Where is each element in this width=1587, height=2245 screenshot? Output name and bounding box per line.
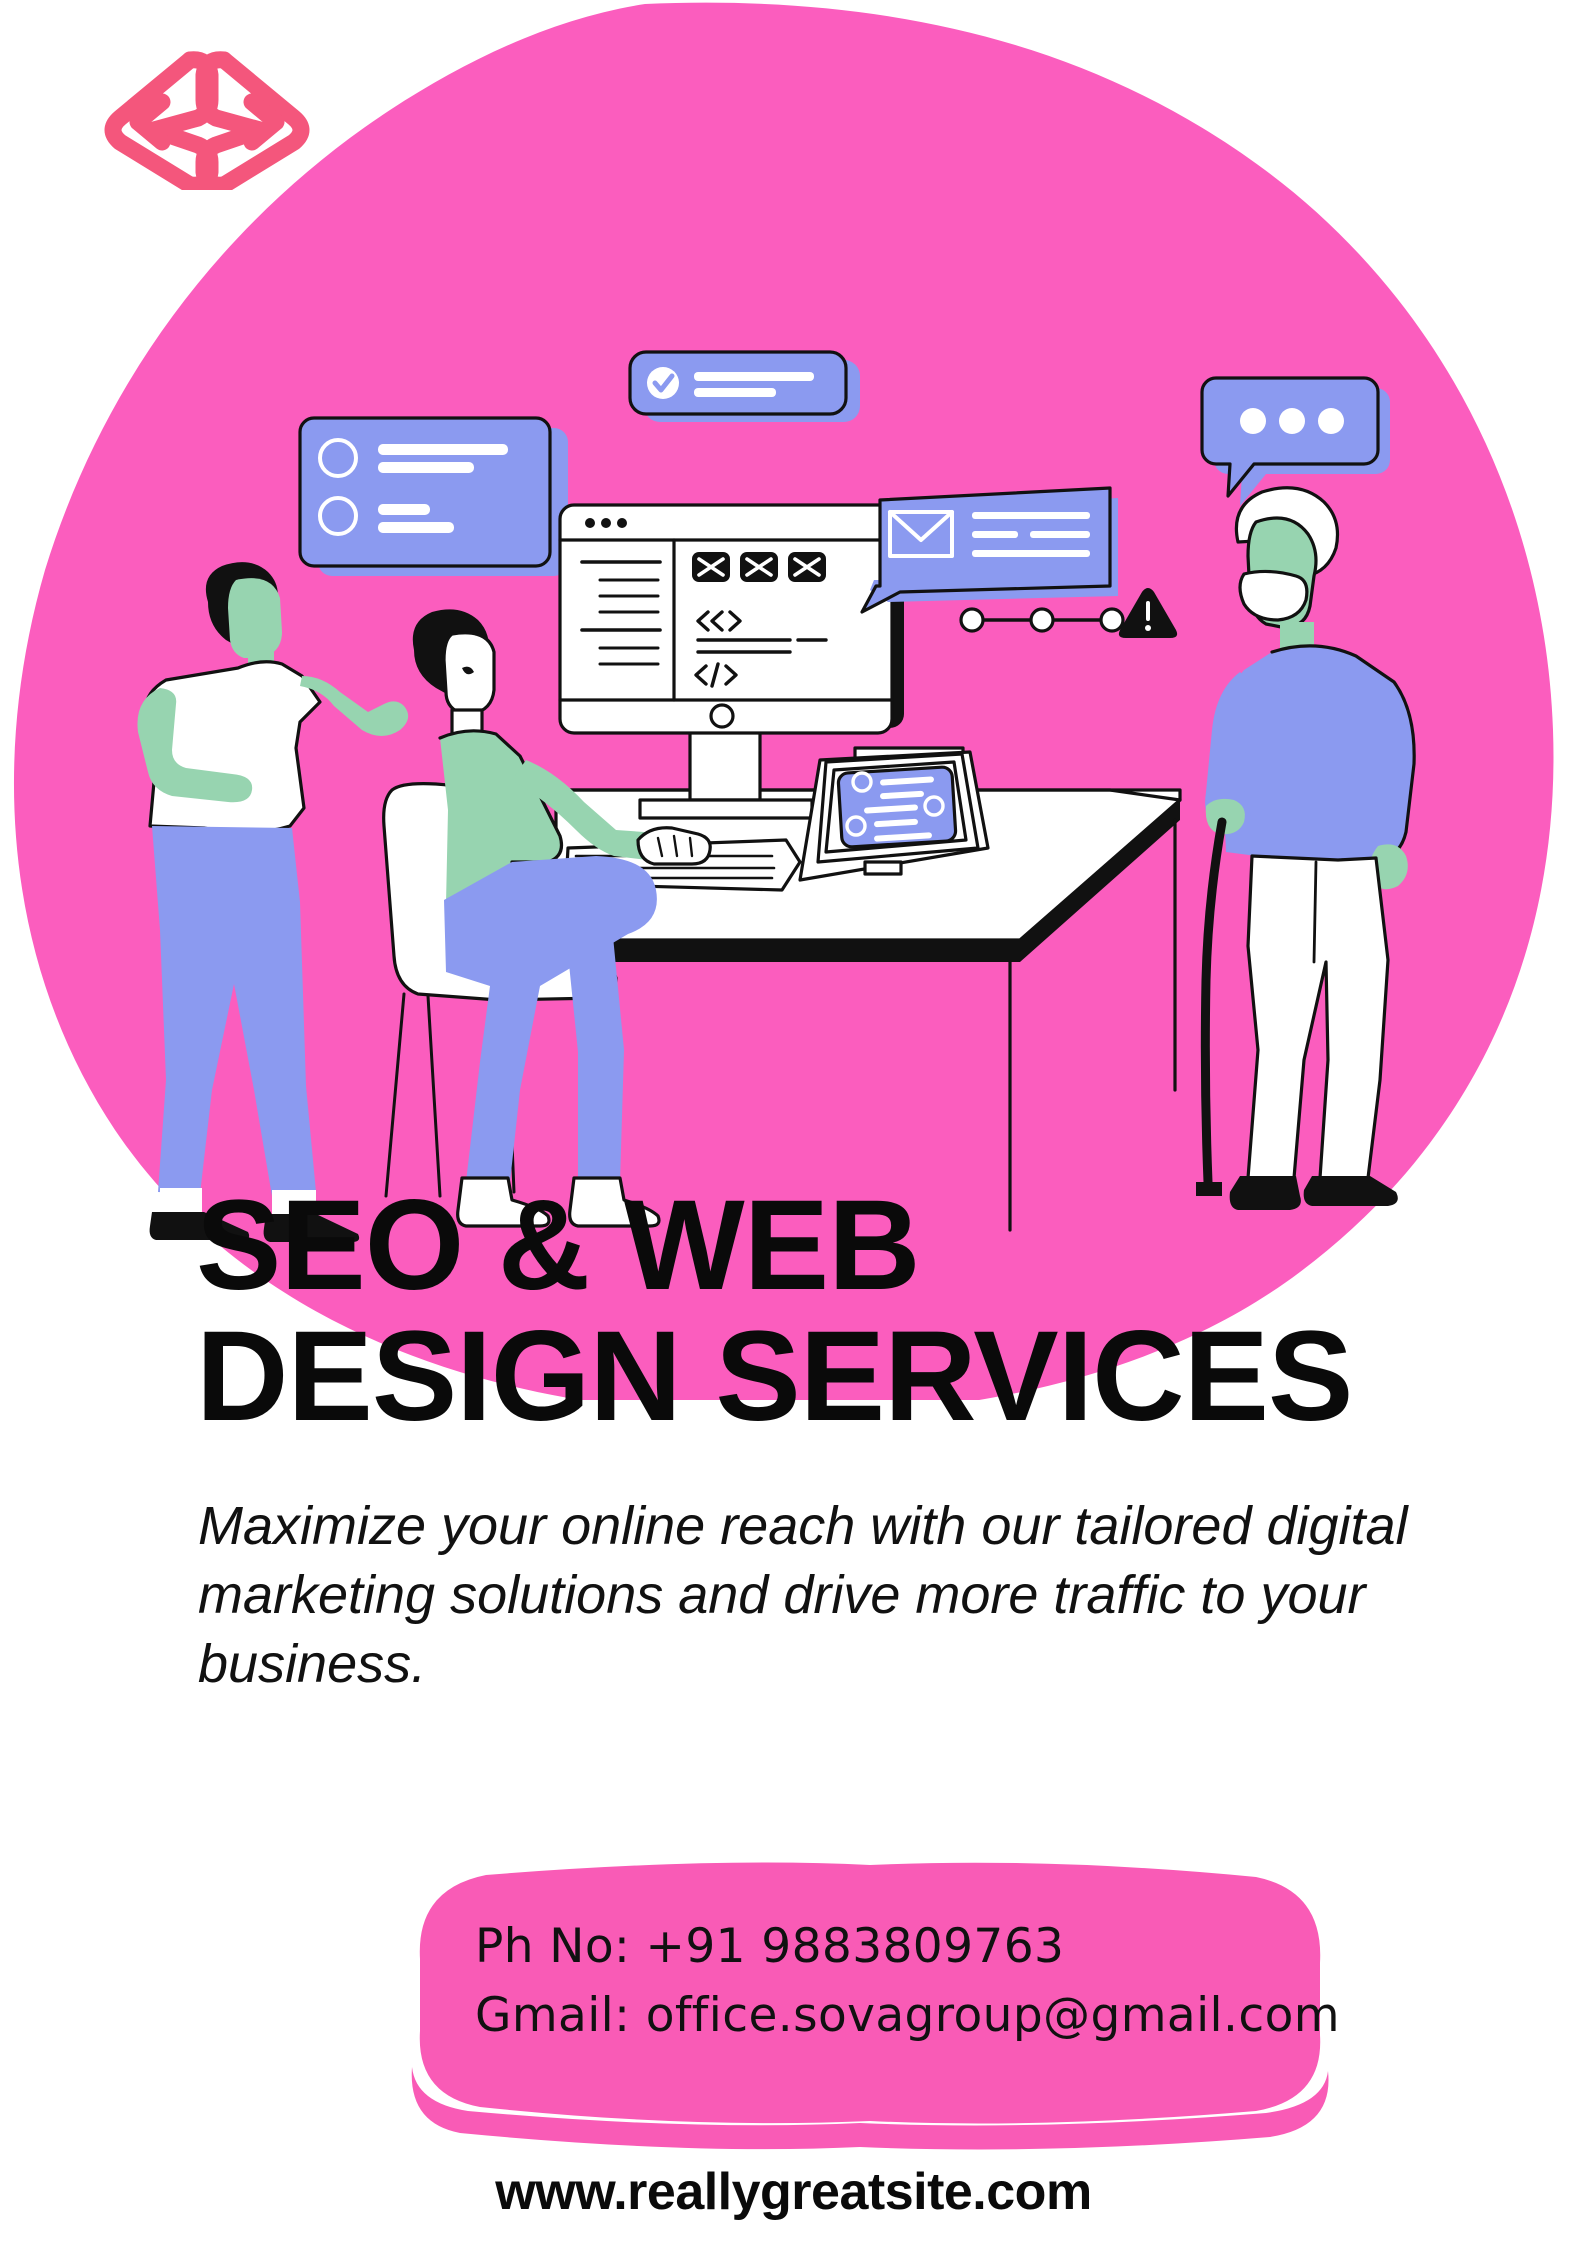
contact-block: Ph No: +91 9883809763 Gmail: office.sova… [390,1855,1350,2155]
page-title: SEO & WEB DESIGN SERVICES [196,1181,1436,1442]
standing-person [137,562,408,1242]
progress-dots [961,609,1123,631]
thumbnail-x-2 [740,552,778,582]
contacts-card [300,418,568,576]
poster-canvas: SEO & WEB DESIGN SERVICES Maximize your … [0,0,1587,2245]
headline-line-1: SEO & WEB [196,1174,920,1317]
phone-line[interactable]: Ph No: +91 9883809763 [475,1913,1315,1982]
headline-line-2: DESIGN SERVICES [196,1312,1436,1443]
email-card [862,488,1118,612]
elderly-person-with-cane [1196,488,1414,1210]
subtitle-text: Maximize your online reach with our tail… [198,1492,1513,1699]
contact-details: Ph No: +91 9883809763 Gmail: office.sova… [475,1913,1315,2050]
thumbnail-x-1 [692,552,730,582]
thumbnail-x-3 [788,552,826,582]
email-line[interactable]: Gmail: office.sovagroup@gmail.com [475,1982,1315,2051]
website-url[interactable]: www.reallygreatsite.com [0,2162,1587,2222]
task-complete-card [630,352,860,422]
warning-triangle-icon [1119,588,1177,638]
